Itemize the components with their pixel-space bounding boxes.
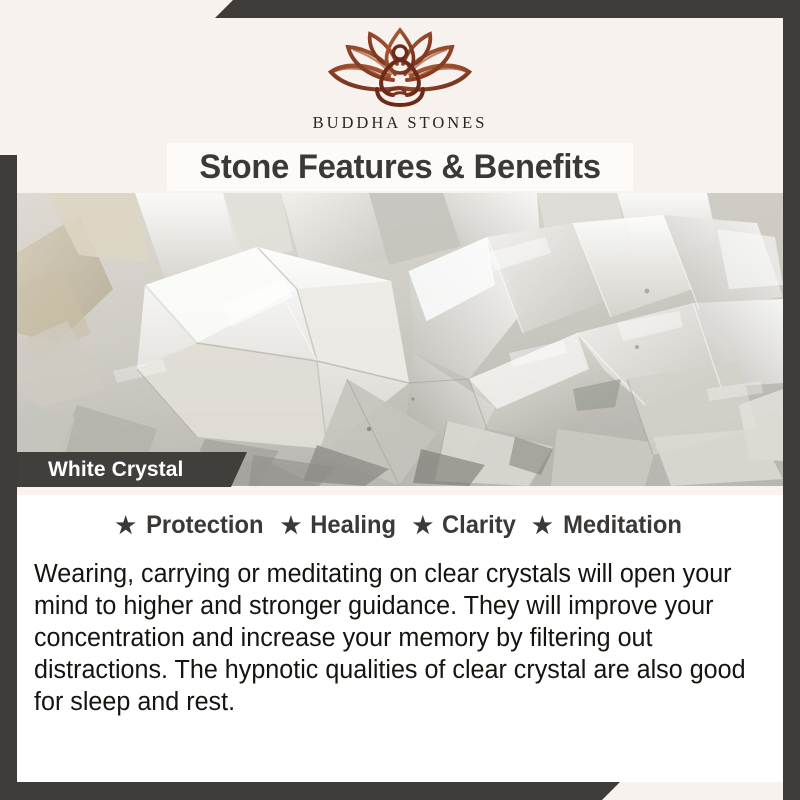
benefit-label: Clarity bbox=[442, 511, 516, 540]
star-icon: ★ bbox=[115, 514, 136, 537]
star-icon: ★ bbox=[281, 514, 302, 537]
star-icon: ★ bbox=[413, 514, 434, 537]
page-title-band: Stone Features & Benefits bbox=[167, 143, 633, 191]
content-panel: ★ Protection ★ Healing ★ Clarity ★ Medit… bbox=[17, 486, 783, 782]
frame-accent-bottom-left bbox=[0, 782, 620, 800]
frame-accent-left bbox=[0, 155, 17, 800]
crystal-cluster-illustration bbox=[17, 193, 783, 486]
white-crystal-photo bbox=[17, 193, 783, 486]
benefit-label: Protection bbox=[146, 511, 263, 540]
frame-accent-top-right bbox=[215, 0, 800, 18]
stone-benefits-poster: BUDDHA STONES Stone Features & Benefits bbox=[0, 0, 800, 800]
benefit-label: Healing bbox=[311, 511, 397, 540]
brand-logo-block: BUDDHA STONES bbox=[0, 22, 800, 133]
panel-top-strip bbox=[17, 486, 783, 495]
header-section: BUDDHA STONES Stone Features & Benefits bbox=[0, 0, 800, 193]
benefit-item-meditation: ★ Meditation bbox=[532, 511, 685, 540]
frame-accent-right bbox=[783, 0, 800, 800]
stone-name-banner: White Crystal bbox=[17, 452, 247, 487]
benefit-label: Meditation bbox=[563, 511, 682, 540]
brand-name: BUDDHA STONES bbox=[313, 113, 488, 133]
benefit-item-healing: ★ Healing bbox=[281, 511, 399, 540]
benefit-item-protection: ★ Protection bbox=[115, 511, 266, 540]
star-icon: ★ bbox=[532, 514, 553, 537]
stone-name-label: White Crystal bbox=[48, 458, 184, 482]
description-text: Wearing, carrying or meditating on clear… bbox=[34, 558, 755, 718]
lotus-meditation-logo-icon bbox=[315, 22, 485, 108]
benefit-item-clarity: ★ Clarity bbox=[413, 511, 518, 540]
page-title: Stone Features & Benefits bbox=[199, 148, 600, 187]
benefits-list: ★ Protection ★ Healing ★ Clarity ★ Medit… bbox=[17, 511, 783, 540]
